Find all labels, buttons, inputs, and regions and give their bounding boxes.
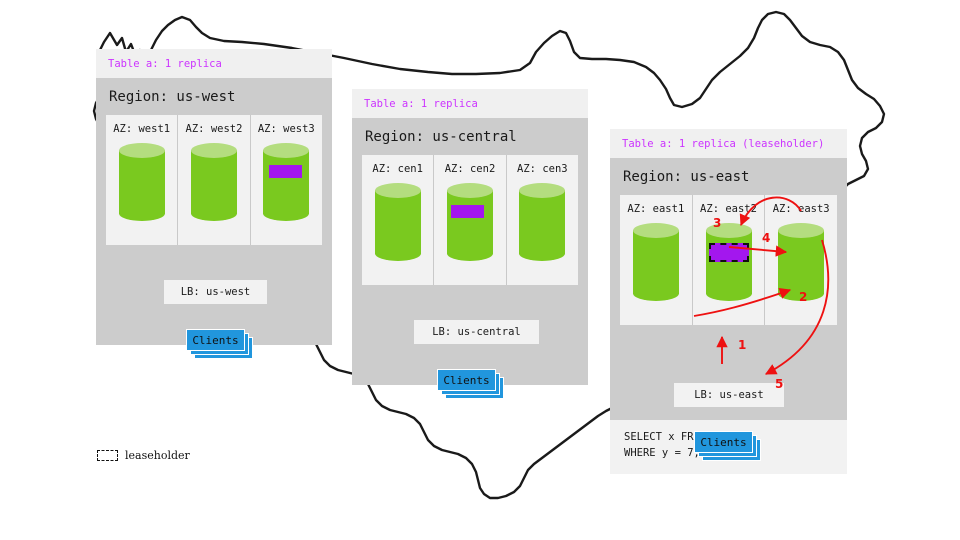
az-cell-west2[interactable]: AZ: west2 [178, 115, 250, 245]
cylinder-icon [447, 183, 493, 261]
az-label: AZ: west1 [110, 123, 173, 135]
cylinder-icon [375, 183, 421, 261]
az-row: AZ: cen1 AZ: cen2 [362, 155, 578, 285]
cylinder-icon [706, 223, 752, 301]
az-cell-east1[interactable]: AZ: east1 [620, 195, 693, 325]
cylinder-top [447, 183, 493, 198]
leaseholder-marker-east2 [709, 243, 749, 262]
clients-stack-us-west[interactable]: Clients [186, 329, 253, 359]
region-title: Region: us-east [623, 169, 837, 185]
region-body: Region: us-west AZ: west1 AZ: west2 [96, 78, 332, 345]
load-balancer-us-east[interactable]: LB: us-east [674, 383, 784, 407]
flow-step-2-label: 2 [799, 290, 807, 304]
az-label: AZ: cen2 [438, 163, 501, 175]
cylinder-icon [191, 143, 237, 221]
cylinder-top [778, 223, 824, 238]
clients-label[interactable]: Clients [694, 431, 753, 453]
cylinder-body [375, 190, 421, 254]
az-label: AZ: east1 [624, 203, 688, 215]
az-cell-west1[interactable]: AZ: west1 [106, 115, 178, 245]
clients-label[interactable]: Clients [186, 329, 245, 351]
az-label: AZ: east3 [769, 203, 833, 215]
az-label: AZ: west2 [182, 123, 245, 135]
replica-marker-cen2 [451, 205, 484, 218]
db-node-cen3[interactable] [519, 183, 565, 261]
region-header-label: Table a: 1 replica (leaseholder) [610, 129, 847, 158]
az-cell-cen1[interactable]: AZ: cen1 [362, 155, 434, 285]
cylinder-body [447, 190, 493, 254]
region-title: Region: us-west [109, 89, 322, 105]
cylinder-body [191, 150, 237, 214]
clients-stack-us-central[interactable]: Clients [437, 369, 504, 399]
clients-label[interactable]: Clients [437, 369, 496, 391]
cylinder-icon [263, 143, 309, 221]
replica-marker-west3 [269, 165, 302, 178]
flow-step-4-label: 4 [762, 231, 770, 245]
legend-label: leaseholder [125, 449, 190, 462]
az-label: AZ: cen3 [511, 163, 574, 175]
cylinder-top [119, 143, 165, 158]
cylinder-body [633, 230, 679, 294]
cylinder-icon [519, 183, 565, 261]
cylinder-body [519, 190, 565, 254]
db-node-cen2[interactable] [447, 183, 493, 261]
flow-step-1-label: 1 [738, 338, 746, 352]
flow-step-3-label: 3 [713, 216, 721, 230]
region-panel-us-east: Table a: 1 replica (leaseholder) Region:… [610, 129, 847, 474]
az-cell-east3[interactable]: AZ: east3 [765, 195, 837, 325]
az-label: AZ: east2 [697, 203, 761, 215]
load-balancer-us-central[interactable]: LB: us-central [414, 320, 539, 344]
az-label: AZ: west3 [255, 123, 318, 135]
region-header-label: Table a: 1 replica [352, 89, 588, 118]
region-header-label: Table a: 1 replica [96, 49, 332, 78]
cylinder-icon [119, 143, 165, 221]
db-node-east1[interactable] [633, 223, 679, 301]
region-panel-us-west: Table a: 1 replica Region: us-west AZ: w… [96, 49, 332, 345]
cylinder-body [119, 150, 165, 214]
az-cell-east2[interactable]: AZ: east2 [693, 195, 766, 325]
db-node-west3[interactable] [263, 143, 309, 221]
cylinder-icon [633, 223, 679, 301]
legend: leaseholder [97, 449, 190, 462]
cylinder-top [519, 183, 565, 198]
cylinder-top [191, 143, 237, 158]
cylinder-body [263, 150, 309, 214]
cylinder-top [633, 223, 679, 238]
cylinder-body [778, 230, 824, 294]
az-row: AZ: east1 AZ: east2 [620, 195, 837, 325]
db-node-west2[interactable] [191, 143, 237, 221]
cylinder-top [263, 143, 309, 158]
flow-step-5-label: 5 [775, 377, 783, 391]
region-body: Region: us-central AZ: cen1 AZ: cen2 [352, 118, 588, 385]
load-balancer-us-west[interactable]: LB: us-west [164, 280, 267, 304]
dashed-rect-icon [97, 450, 118, 461]
az-cell-west3[interactable]: AZ: west3 [251, 115, 322, 245]
cylinder-top [375, 183, 421, 198]
az-label: AZ: cen1 [366, 163, 429, 175]
diagram-canvas: Table a: 1 replica Region: us-west AZ: w… [0, 0, 960, 540]
region-body: Region: us-east AZ: east1 AZ: east2 [610, 158, 847, 420]
clients-stack-us-east[interactable]: Clients [694, 431, 761, 461]
db-node-cen1[interactable] [375, 183, 421, 261]
az-cell-cen2[interactable]: AZ: cen2 [434, 155, 506, 285]
az-cell-cen3[interactable]: AZ: cen3 [507, 155, 578, 285]
db-node-east2[interactable] [706, 223, 752, 301]
region-panel-us-central: Table a: 1 replica Region: us-central AZ… [352, 89, 588, 385]
region-title: Region: us-central [365, 129, 578, 145]
az-row: AZ: west1 AZ: west2 [106, 115, 322, 245]
db-node-west1[interactable] [119, 143, 165, 221]
cylinder-body [706, 230, 752, 294]
